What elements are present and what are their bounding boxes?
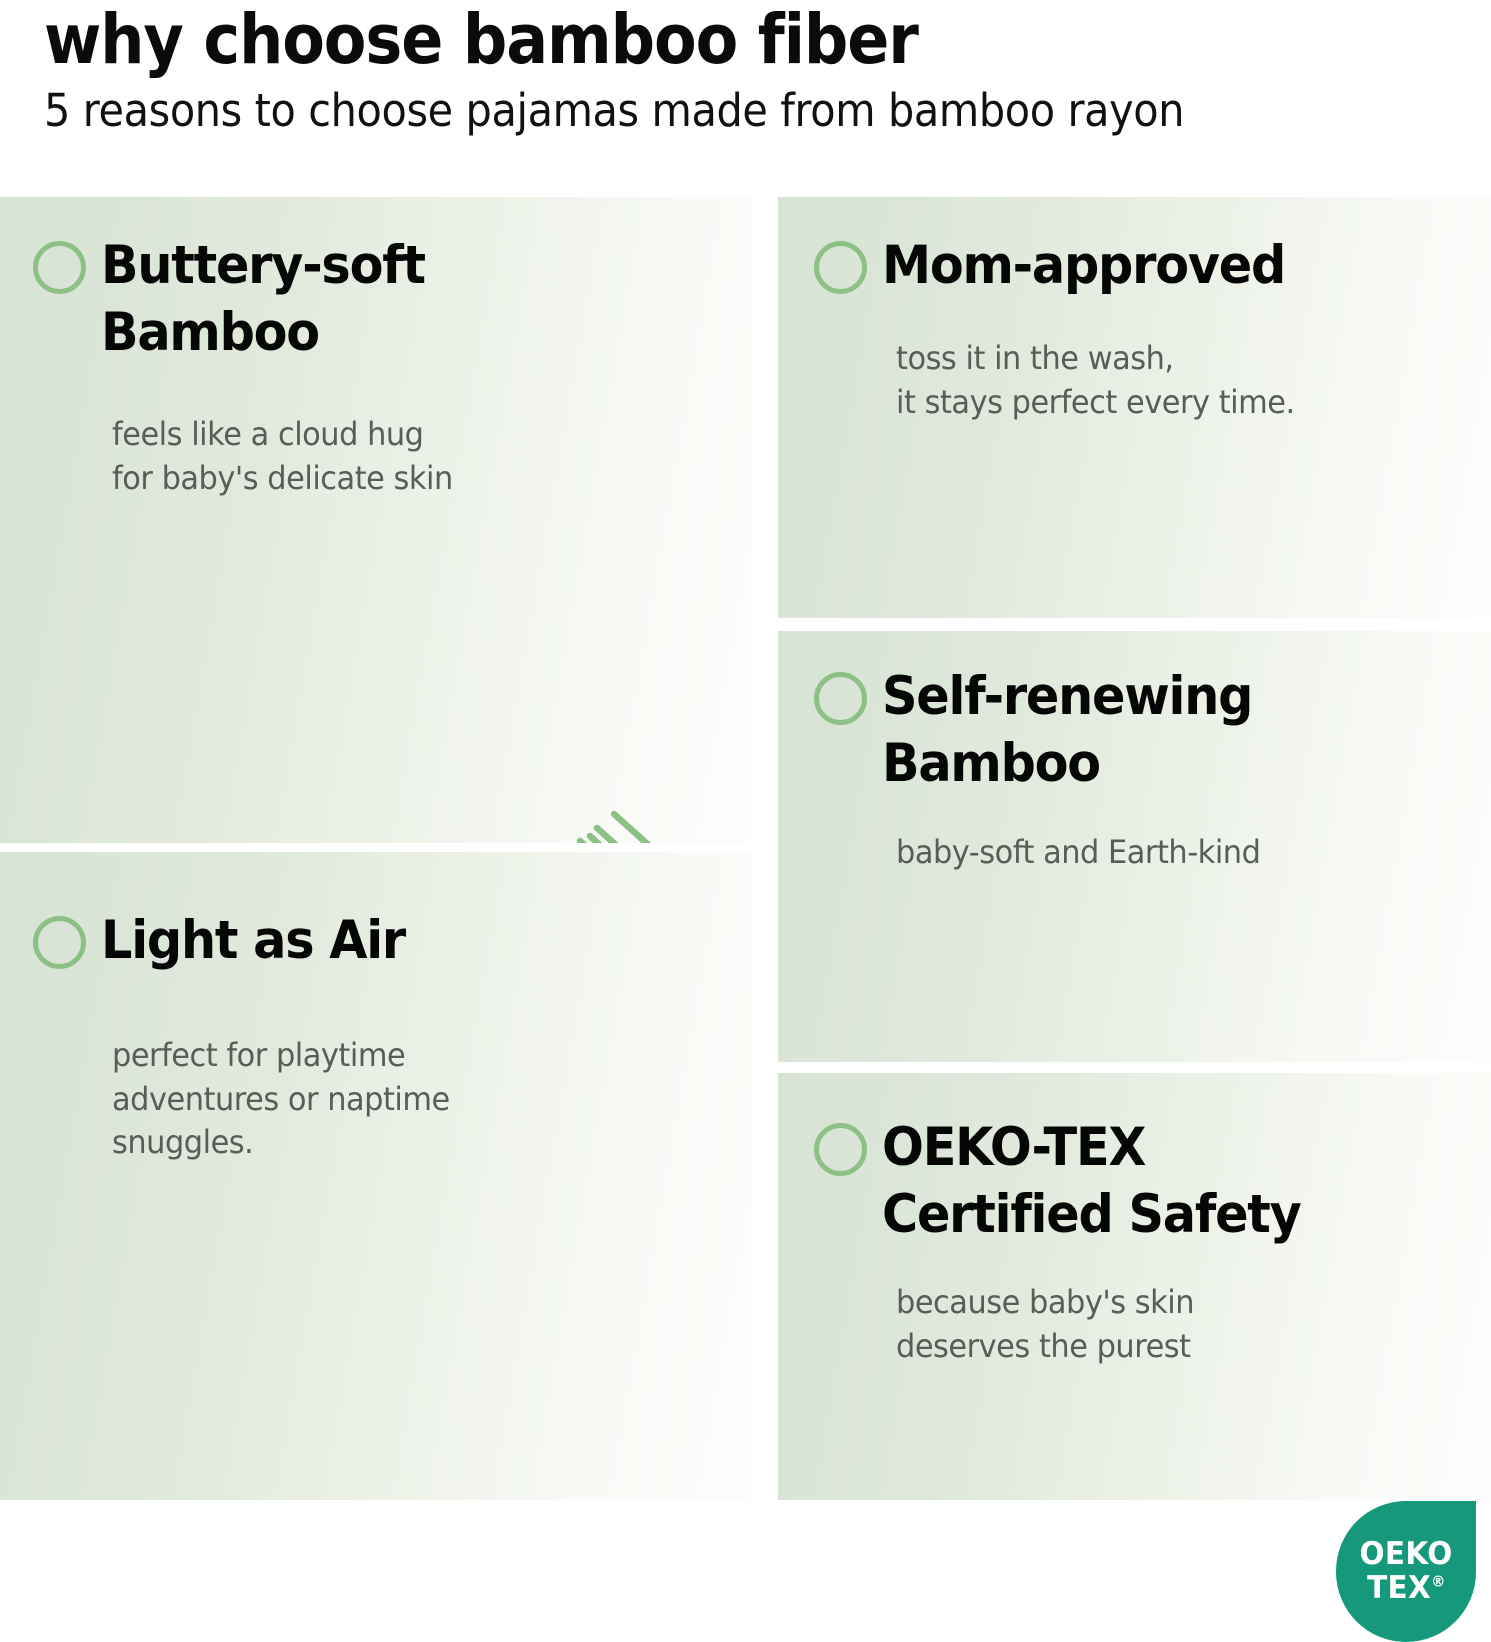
benefit-card-buttery-soft-bamboo: Buttery-soft Bamboo feels like a cloud h… xyxy=(0,197,752,843)
card-header: OEKO-TEX Certified Safety xyxy=(814,1114,1332,1249)
benefit-card-oeko-tex-certified-safety: OEKO-TEX Certified Safety because baby's… xyxy=(778,1073,1491,1500)
circle-bullet-icon xyxy=(814,241,867,294)
card-header: Light as Air xyxy=(33,907,428,974)
badge-line-2: TEX® xyxy=(1367,1572,1446,1605)
hand-touch-icon xyxy=(498,789,718,843)
card-description: because baby's skin deserves the purest xyxy=(896,1281,1194,1368)
card-title: Buttery-soft Bamboo xyxy=(101,232,425,367)
card-description: baby-soft and Earth-kind xyxy=(896,831,1260,875)
card-title: OEKO-TEX Certified Safety xyxy=(882,1114,1301,1249)
card-title: Self-renewing Bamboo xyxy=(882,663,1252,798)
circle-bullet-icon xyxy=(814,672,867,725)
oeko-tex-badge-icon: OEKO TEX® xyxy=(1336,1501,1476,1642)
benefit-card-mom-approved: Mom-approved toss it in the wash, it sta… xyxy=(778,197,1491,618)
card-description: feels like a cloud hug for baby's delica… xyxy=(112,413,453,500)
circle-bullet-icon xyxy=(33,241,86,294)
card-title: Light as Air xyxy=(101,907,405,974)
card-header: Mom-approved xyxy=(814,232,1315,299)
card-header: Buttery-soft Bamboo xyxy=(33,232,449,367)
benefit-card-self-renewing-bamboo: Self-renewing Bamboo baby-soft and Earth… xyxy=(778,631,1491,1062)
page-subtitle: 5 reasons to choose pajamas made from ba… xyxy=(44,75,1335,134)
card-title: Mom-approved xyxy=(882,232,1285,299)
card-description: perfect for playtime adventures or napti… xyxy=(112,1034,450,1165)
page-header: why choose bamboo fiber 5 reasons to cho… xyxy=(0,0,1491,197)
circle-bullet-icon xyxy=(33,916,86,969)
card-header: Self-renewing Bamboo xyxy=(814,663,1280,798)
benefit-card-light-as-air: Light as Air perfect for playtime advent… xyxy=(0,852,752,1500)
badge-line-1: OEKO xyxy=(1359,1538,1452,1571)
page-title: why choose bamboo fiber xyxy=(44,0,1307,75)
card-description: toss it in the wash, it stays perfect ev… xyxy=(896,337,1295,424)
circle-bullet-icon xyxy=(814,1123,867,1176)
benefit-card-grid: Buttery-soft Bamboo feels like a cloud h… xyxy=(0,197,1491,1500)
